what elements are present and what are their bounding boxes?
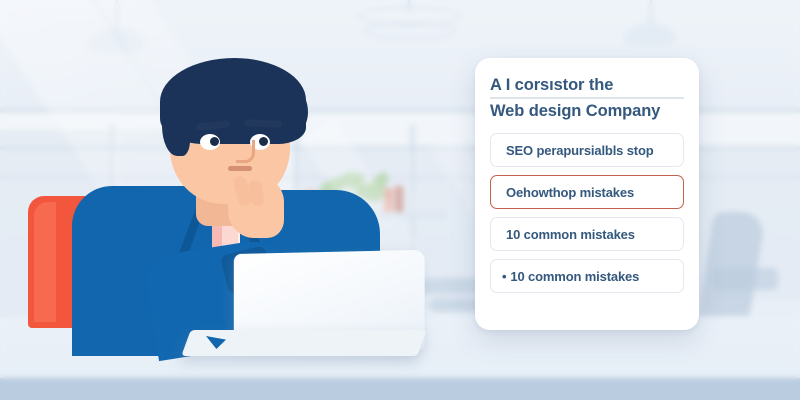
card-heading: A I corsıstor the Web design Company [490, 75, 684, 122]
option-label-1: SEO perapursialbls stop [506, 143, 654, 158]
option-item-4[interactable]: • 10 common mistakes [490, 259, 684, 293]
option-list: SEO perapursialbls stop Oehowthop mistak… [490, 133, 684, 293]
heading-divider [490, 97, 684, 99]
overlay-card: A I corsıstor the Web design Company SEO… [475, 58, 699, 330]
heading-line-1: A I corsıstor the [490, 75, 684, 96]
illustration-scene: A I corsıstor the Web design Company SEO… [0, 0, 800, 400]
pupil-left [210, 137, 219, 146]
pupil-right [259, 137, 268, 146]
option-item-3[interactable]: 10 common mistakes [490, 217, 684, 251]
option-label-4: 10 common mistakes [510, 269, 639, 284]
mouth [228, 166, 252, 171]
option-item-2-selected[interactable]: Oehowthop mistakes [490, 175, 684, 209]
hair-sideburn [162, 100, 190, 156]
nose [236, 140, 255, 163]
bullet-icon-4: • [502, 270, 506, 283]
option-label-3: 10 common mistakes [506, 227, 635, 242]
option-label-2: Oehowthop mistakes [506, 185, 634, 200]
office-chair-highlight [34, 202, 56, 322]
heading-line-2: Web design Company [490, 101, 684, 122]
option-item-1[interactable]: SEO perapursialbls stop [490, 133, 684, 167]
